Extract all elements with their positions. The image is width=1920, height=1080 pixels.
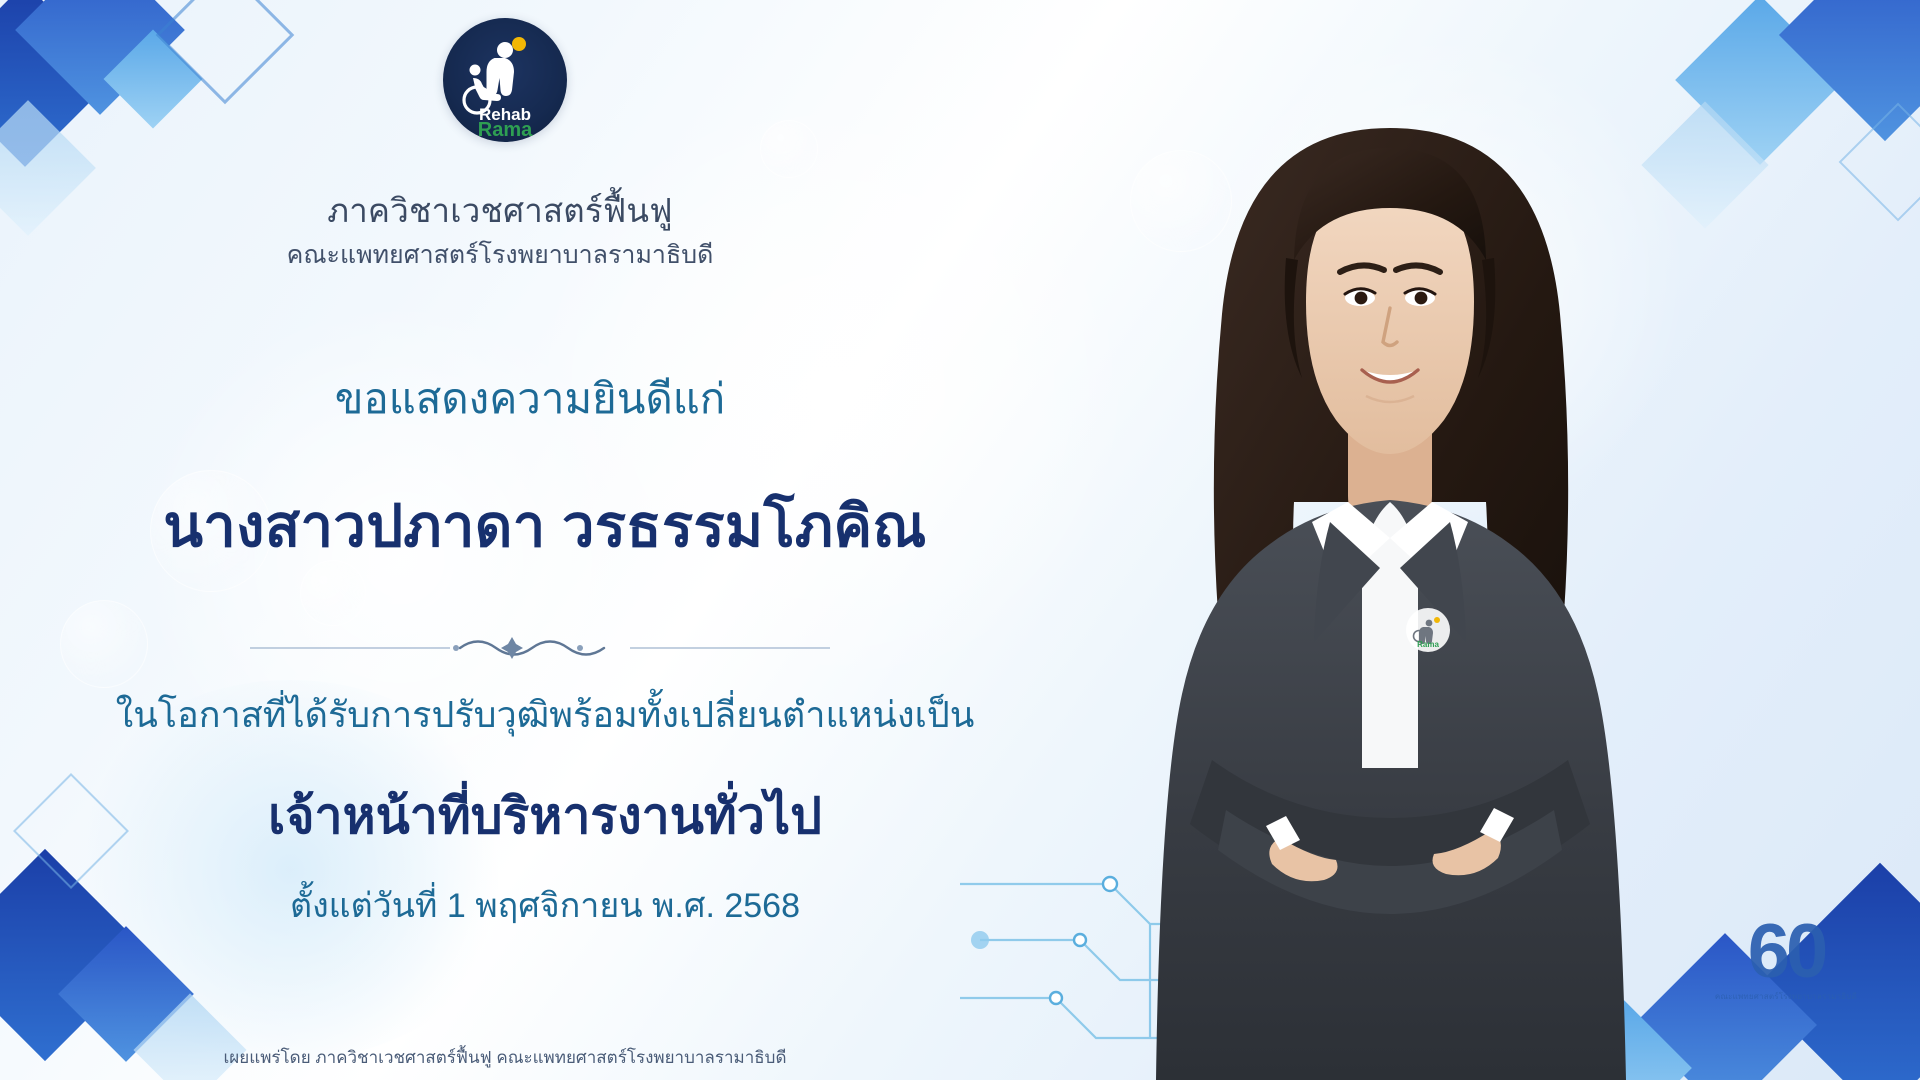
announcement-canvas: Rehab Rama ภาควิชาเวชศาสตร์ฟื้นฟู คณะแพท… (0, 0, 1920, 1080)
effective-date: ตั้งแต่วันที่ 1 พฤศจิกายน พ.ศ. 2568 (0, 886, 1090, 927)
anniversary-number: 60 (1686, 916, 1886, 988)
svg-text:Rama: Rama (1417, 640, 1439, 649)
bokeh-circle (1130, 150, 1232, 252)
logo-container: Rehab Rama (0, 18, 1010, 142)
occasion-line: ในโอกาสที่ได้รับการปรับวุฒิพร้อมทั้งเปลี… (0, 692, 1090, 737)
light-bloom (1180, 40, 1700, 520)
recipient-name: นางสาวปภาดา วรธรรมโภคิณ (0, 492, 1090, 562)
decorative-diamond-outline (1839, 103, 1920, 222)
department-name: ภาควิชาเวชศาสตร์ฟื้นฟู (0, 192, 1000, 231)
circuit-decoration (960, 870, 1380, 1080)
bokeh-circle (300, 560, 366, 626)
rehab-rama-logo: Rehab Rama (443, 18, 567, 142)
anniversary-caption: คณะแพทยศาสตร์โรงพยาบาลรามาธิบดี (1686, 992, 1886, 1002)
bokeh-circle (60, 600, 148, 688)
position-title: เจ้าหน้าที่บริหารงานทั่วไป (0, 786, 1090, 846)
ornamental-divider (250, 628, 830, 668)
footer-credit: เผยแพร่โดย ภาควิชาเวชศาสตร์ฟื้นฟู คณะแพท… (0, 1044, 1010, 1071)
anniversary-emblem: 60 คณะแพทยศาสตร์โรงพยาบาลรามาธิบดี (1686, 916, 1886, 1066)
svg-text:Rama: Rama (478, 119, 533, 136)
faculty-name: คณะแพทยศาสตร์โรงพยาบาลรามาธิบดี (0, 240, 1000, 270)
congratulation-line: ขอแสดงความยินดีแก่ (0, 374, 1060, 424)
bokeh-circle (1260, 300, 1332, 372)
